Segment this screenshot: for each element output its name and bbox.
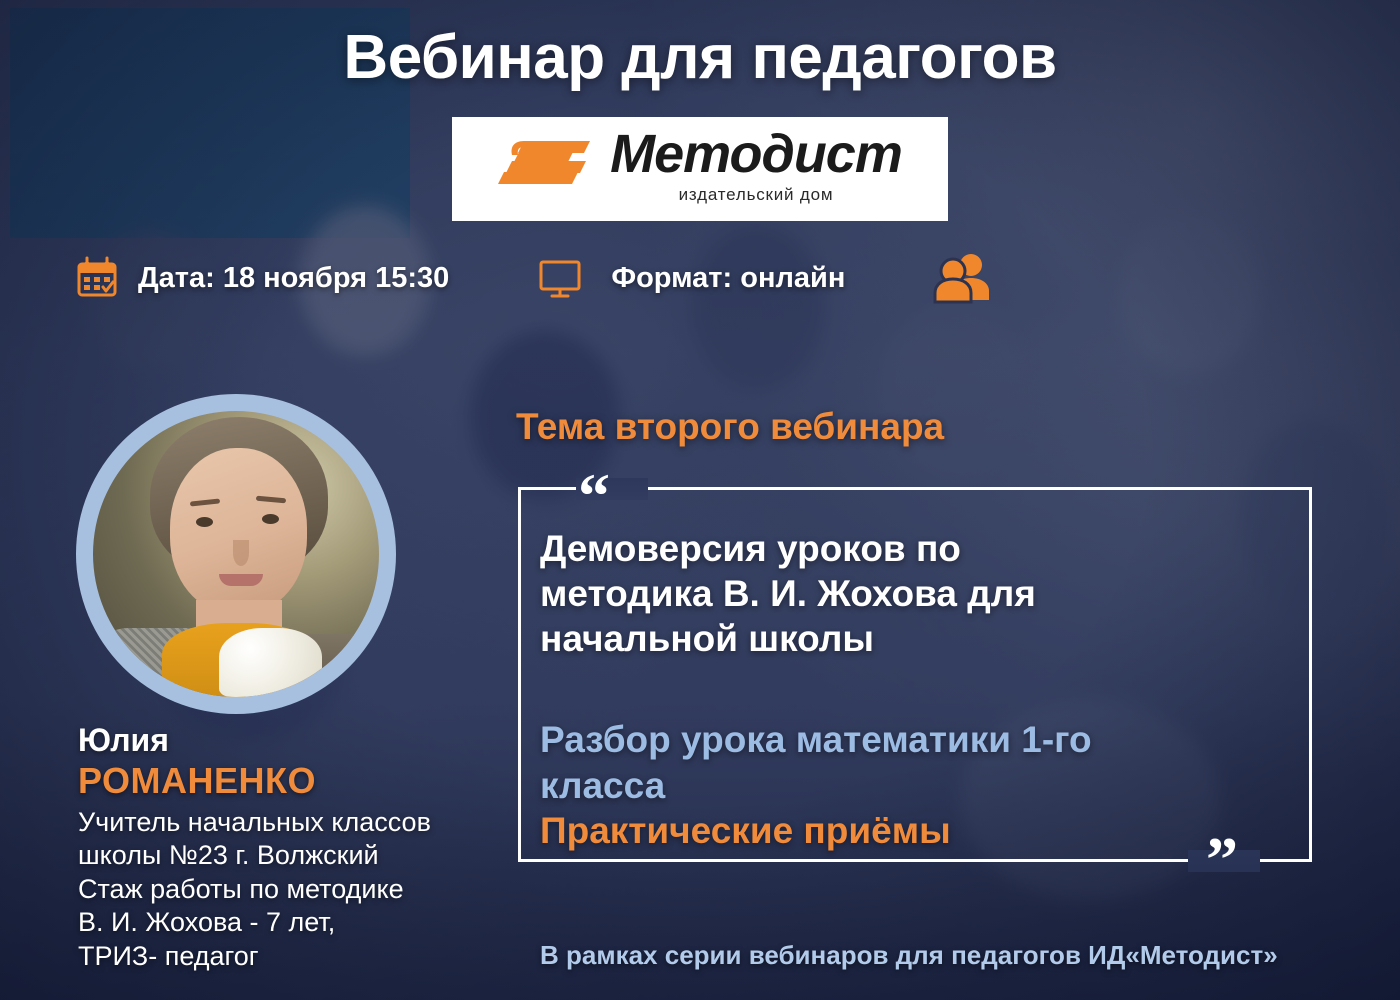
logo-name: Методист — [610, 129, 902, 180]
avatar — [76, 394, 396, 714]
info-date: Дата: 18 ноября 15:30 — [74, 255, 449, 301]
info-format-label: Формат: онлайн — [611, 262, 845, 295]
info-format: Формат: онлайн — [537, 255, 845, 301]
topic-sub-line: класса — [540, 763, 1300, 808]
monitor-icon — [537, 255, 583, 301]
speaker-last-name: РОМАНЕНКО — [78, 760, 316, 802]
speaker-bio-line: Учитель начальных классов — [78, 806, 518, 839]
publisher-logo: Методист издательский дом — [452, 117, 948, 221]
speaker-bio-line: школы №23 г. Волжский — [78, 839, 518, 872]
info-audience — [933, 252, 993, 304]
topic-main: Демоверсия уроков по методика В. И. Жохо… — [540, 526, 1300, 661]
speaker-bio-line: ТРИЗ- педагог — [78, 940, 518, 973]
footer-note: В рамках серии вебинаров для педагогов И… — [540, 940, 1278, 971]
speaker-bio-line: Стаж работы по методике — [78, 873, 518, 906]
topic-sub-line: Разбор урока математики 1-го — [540, 717, 1300, 762]
topic-heading: Тема второго вебинара — [516, 406, 944, 448]
topic-main-line: методика В. И. Жохова для — [540, 571, 1300, 616]
topic-main-line: начальной школы — [540, 616, 1300, 661]
speaker-bio-line: В. И. Жохова - 7 лет, — [78, 906, 518, 939]
page-title: Вебинар для педагогов — [0, 22, 1400, 93]
quote-open-icon: “ — [578, 464, 610, 528]
logo-subtitle: издательский дом — [679, 185, 834, 205]
stacked-bars-e-icon — [498, 137, 594, 197]
topic-sub: Разбор урока математики 1-го класса — [540, 717, 1300, 807]
topic-main-line: Демоверсия уроков по — [540, 526, 1300, 571]
topic-accent-line: Практические приёмы — [540, 808, 1300, 853]
info-bar: Дата: 18 ноября 15:30 Формат: онлайн — [74, 252, 993, 304]
people-group-icon — [933, 252, 993, 304]
info-date-label: Дата: 18 ноября 15:30 — [138, 262, 449, 295]
webinar-poster: Вебинар для педагогов Методист издательс… — [0, 0, 1400, 1000]
avatar-photo — [93, 411, 379, 697]
speaker-first-name: Юлия — [78, 722, 169, 759]
speaker-bio: Учитель начальных классов школы №23 г. В… — [78, 806, 518, 973]
topic-content: Демоверсия уроков по методика В. И. Жохо… — [540, 526, 1300, 853]
calendar-icon — [74, 255, 120, 301]
